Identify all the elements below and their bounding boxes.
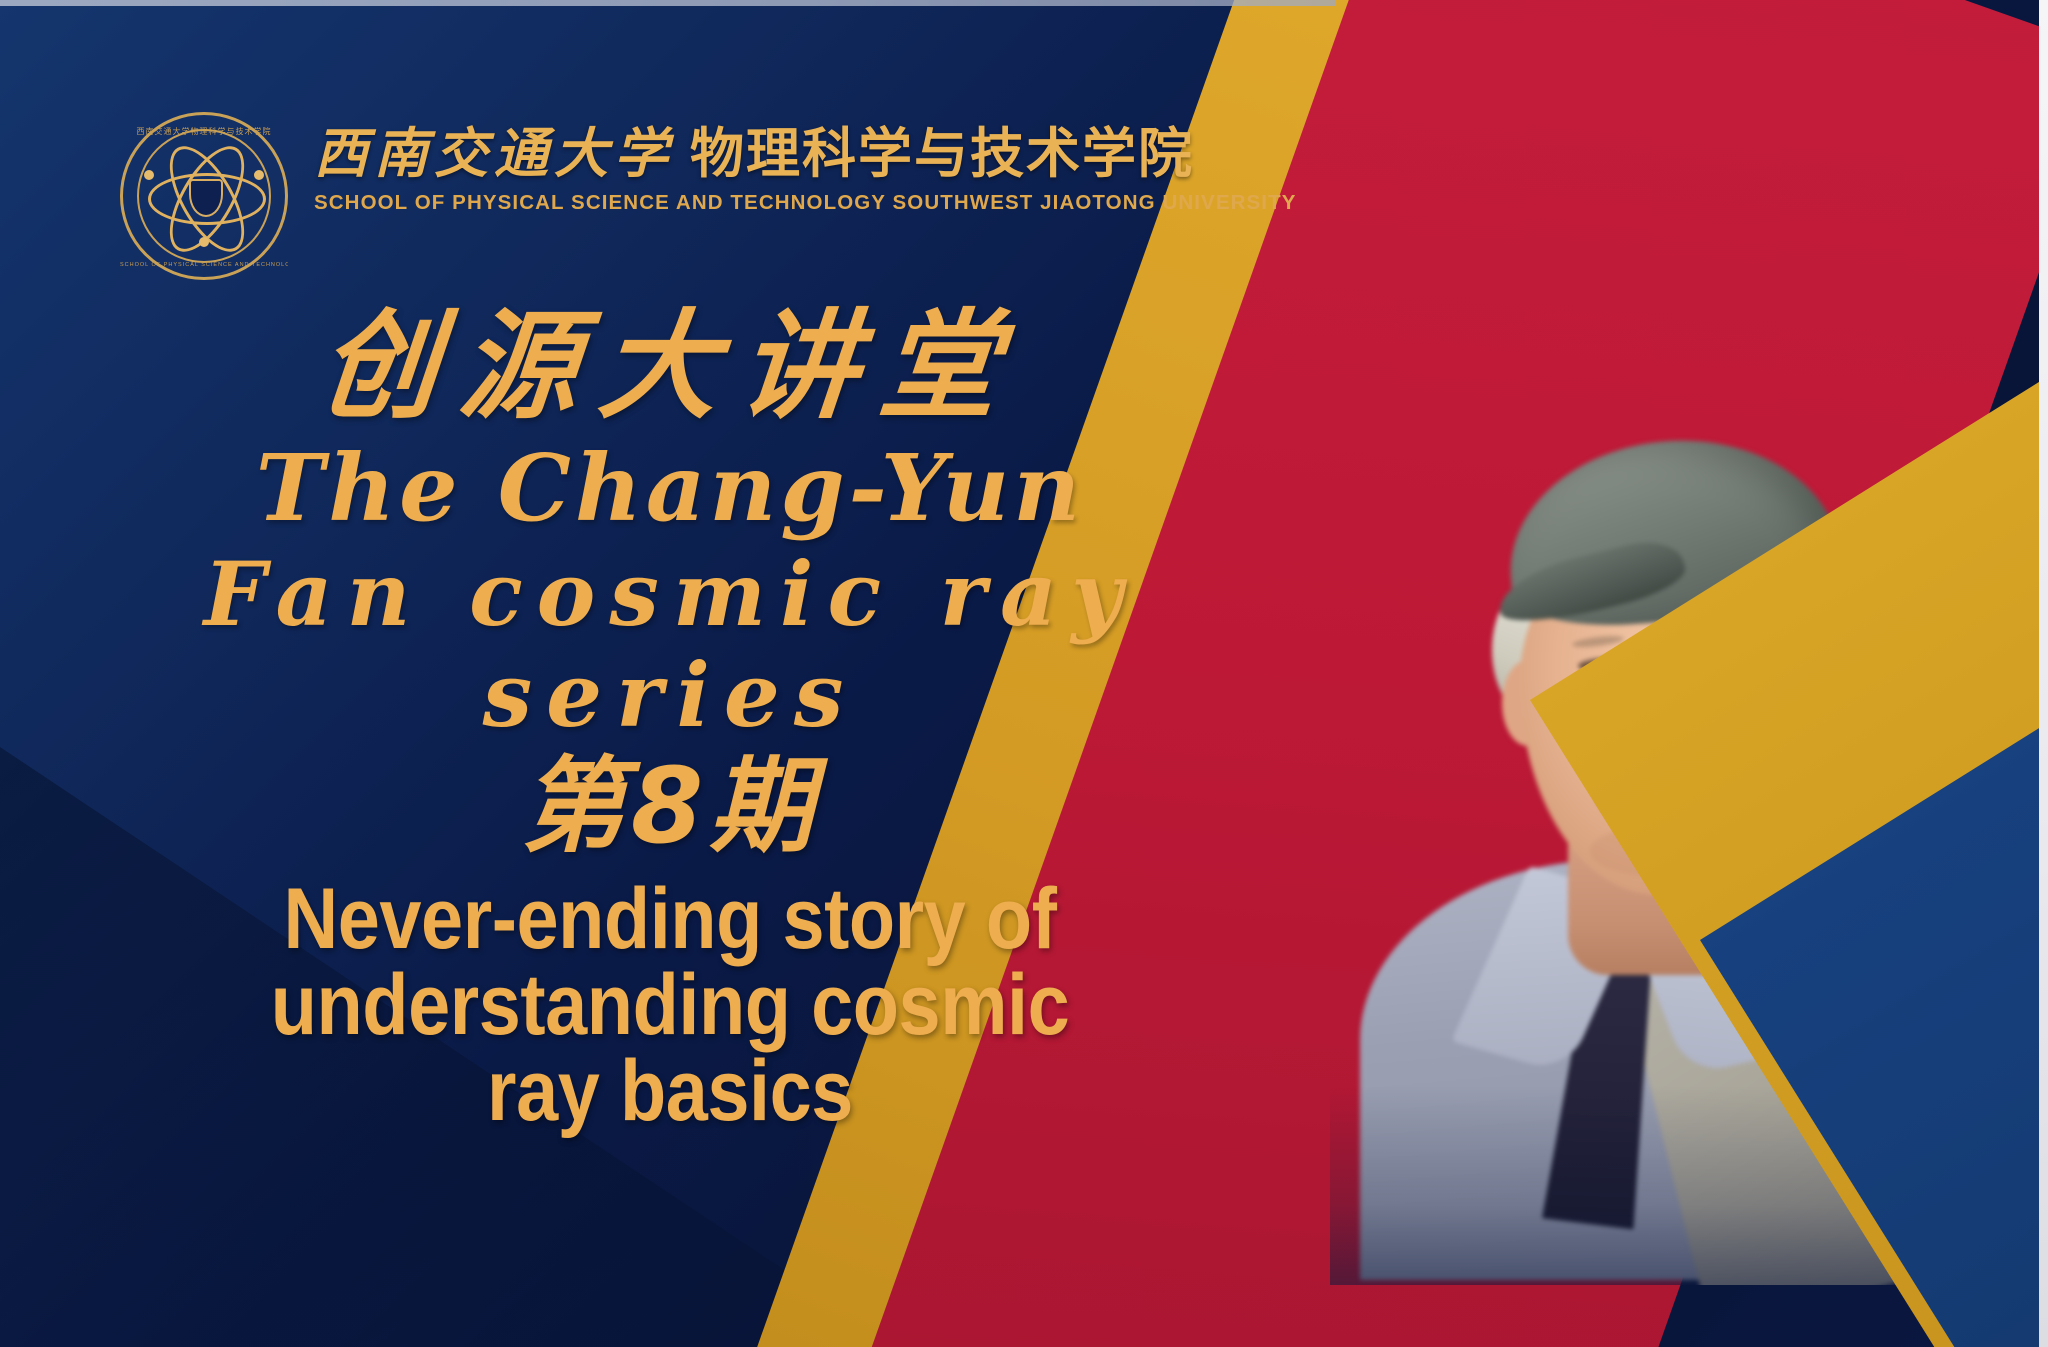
- school-name-cn: 物理科学与技术学院: [690, 122, 1194, 185]
- episode-number-cn: 第8期: [0, 752, 1340, 861]
- seal-arc-text-en: SCHOOL OF PHYSICAL SCIENCE AND TECHNOLOG…: [120, 262, 288, 268]
- institution-name-cn-row: 西南交通大学物理科学与技术学院: [314, 126, 1296, 183]
- seal-arc-text-cn: 西南交通大学物理科学与技术学院: [120, 126, 288, 137]
- atom-electron-1: [144, 170, 154, 180]
- lecture-poster: 西南交通大学物理科学与技术学院 SCHOOL OF PHYSICAL SCIEN…: [0, 0, 2048, 1347]
- right-edge-strip: [2039, 0, 2048, 1347]
- institution-names: 西南交通大学物理科学与技术学院 SCHOOL OF PHYSICAL SCIEN…: [314, 112, 1296, 215]
- institution-name-en: SCHOOL OF PHYSICAL SCIENCE AND TECHNOLOG…: [314, 191, 1296, 215]
- series-title-en-line1: The Chang-Yun: [256, 434, 1084, 542]
- series-title-en-line2: Fan cosmic ray series: [0, 544, 1340, 746]
- topic-title: Never-ending story of understanding cosm…: [80, 876, 1259, 1134]
- atom-seal-icon: 西南交通大学物理科学与技术学院 SCHOOL OF PHYSICAL SCIEN…: [120, 112, 288, 280]
- atom-electron-3: [199, 237, 209, 247]
- title-block: 创源大讲堂 The Chang-Yun Fan cosmic ray serie…: [0, 300, 1340, 1134]
- topic-title-line2: understanding cosmic: [80, 962, 1259, 1048]
- series-title-en: The Chang-Yun Fan cosmic ray series: [0, 436, 1340, 746]
- institution-header: 西南交通大学物理科学与技术学院 SCHOOL OF PHYSICAL SCIEN…: [120, 112, 1296, 280]
- top-edge-strip: [0, 0, 1335, 6]
- university-name-cn: 西南交通大学: [314, 122, 674, 185]
- atom-electron-2: [254, 170, 264, 180]
- topic-title-line3: ray basics: [80, 1048, 1259, 1134]
- topic-title-line1: Never-ending story of: [80, 876, 1259, 962]
- lecture-series-title-cn: 创源大讲堂: [0, 300, 1346, 432]
